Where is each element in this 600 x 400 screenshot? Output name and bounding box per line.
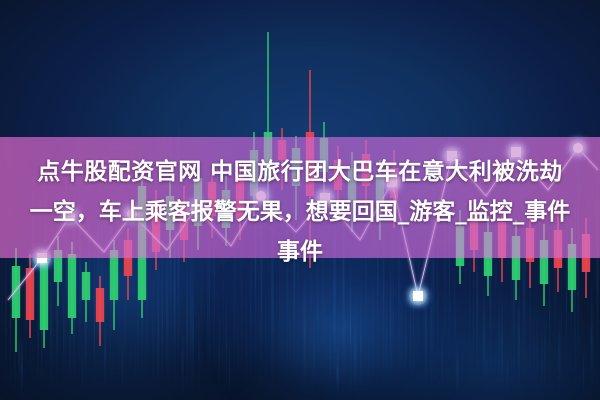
headline-line-1: 点牛股配资官网 中国旅行团大巴车在意大利被洗劫 (0, 152, 600, 192)
headline-text: 点牛股配资官网 中国旅行团大巴车在意大利被洗劫 一空，车上乘客报警无果，想要回国… (0, 152, 600, 272)
headline-line-2: 一空，车上乘客报警无果，想要回国_游客_监控_事件 (0, 192, 600, 232)
headline-line-3: 事件 (0, 232, 600, 272)
banner-image: 点牛股配资官网 中国旅行团大巴车在意大利被洗劫 一空，车上乘客报警无果，想要回国… (0, 0, 600, 400)
